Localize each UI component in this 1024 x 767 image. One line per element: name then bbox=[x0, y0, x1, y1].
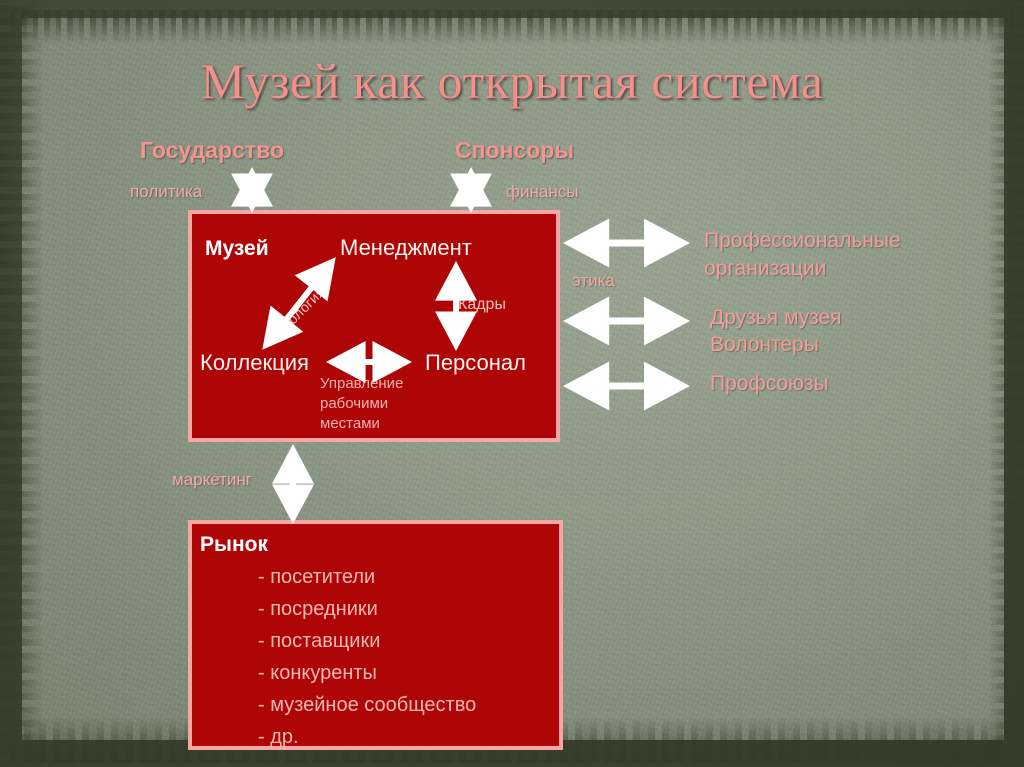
edge-label-ethics: этика bbox=[572, 271, 615, 291]
external-friends-line2: Волонтеры bbox=[710, 332, 819, 358]
node-personnel: Персонал bbox=[425, 350, 526, 376]
presentation-slide: Музей как открытая система Государство п… bbox=[0, 0, 1024, 767]
external-actor-state: Государство bbox=[140, 137, 284, 164]
market-item: - др. bbox=[258, 726, 299, 749]
node-management: Менеджмент bbox=[340, 235, 472, 261]
external-trade-unions: Профсоюзы bbox=[710, 371, 829, 397]
market-item: - конкуренты bbox=[258, 662, 377, 685]
market-heading: Рынок bbox=[200, 533, 268, 557]
external-actor-sponsors: Спонсоры bbox=[455, 137, 574, 164]
market-item: - посетители bbox=[258, 566, 375, 589]
node-collection: Коллекция bbox=[200, 350, 309, 376]
edge-label-cadres: Кадры bbox=[458, 295, 506, 314]
market-item: - музейное сообщество bbox=[258, 694, 476, 717]
market-item: - посредники bbox=[258, 598, 378, 621]
edge-label-politics: политика bbox=[130, 182, 202, 202]
edge-label-workplace-line2: рабочими bbox=[320, 394, 388, 413]
edge-label-workplace-line1: Управление bbox=[320, 374, 403, 393]
edge-label-finance: финансы bbox=[506, 182, 578, 202]
market-heading-colon: : bbox=[262, 533, 268, 556]
system-heading-museum: Музей bbox=[205, 237, 269, 261]
edge-label-marketing: маркетинг bbox=[172, 470, 252, 490]
external-professional-orgs-line2: организации bbox=[704, 256, 826, 282]
edge-label-workplace-line3: местами bbox=[320, 414, 380, 433]
slide-title: Музей как открытая система bbox=[0, 52, 1024, 110]
external-friends-line1: Друзья музея bbox=[710, 305, 842, 331]
external-professional-orgs-line1: Профессиональные bbox=[704, 228, 901, 254]
market-item: - поставщики bbox=[258, 630, 380, 653]
